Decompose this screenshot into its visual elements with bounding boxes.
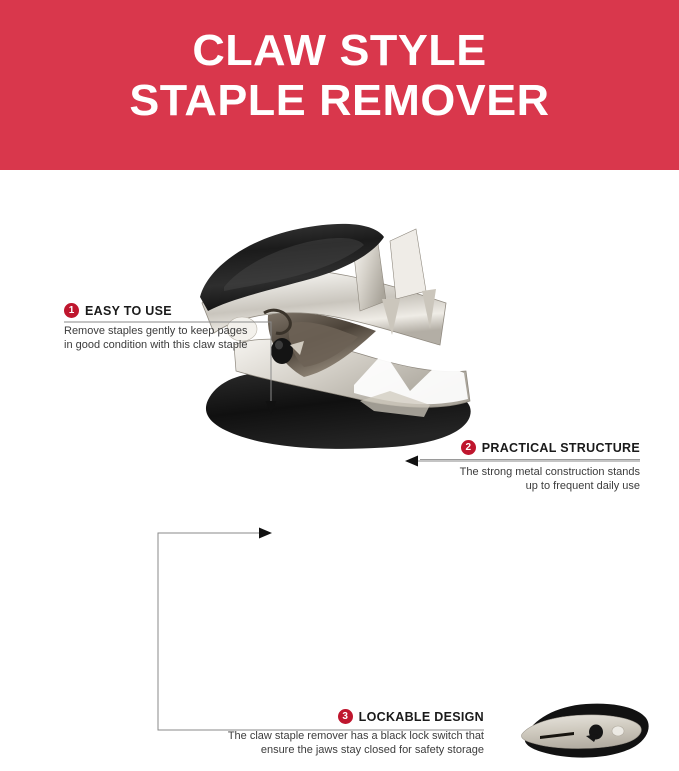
callout-1-heading: 1 EASY TO USE	[64, 303, 279, 318]
title-line-1: CLAW STYLE	[0, 26, 679, 76]
callout-3-body: The claw staple remover has a black lock…	[216, 730, 484, 757]
title-line-2: STAPLE REMOVER	[0, 76, 679, 126]
inset-rivet	[612, 726, 624, 736]
callout-2-body: The strong metal construction stands up …	[420, 466, 640, 493]
callout-1-body: Remove staples gently to keep pages in g…	[64, 325, 279, 352]
callout-lockable-design: 3 LOCKABLE DESIGN The claw staple remove…	[216, 709, 484, 757]
claw-tooth-2	[390, 229, 426, 299]
callout-1-badge: 1	[64, 303, 79, 318]
inset-product-image	[512, 692, 664, 764]
callout-easy-to-use: 1 EASY TO USE Remove staples gently to k…	[64, 303, 279, 352]
callout-3-badge: 3	[338, 709, 353, 724]
page-title: CLAW STYLE STAPLE REMOVER	[0, 26, 679, 126]
callout-1-title: EASY TO USE	[85, 304, 172, 318]
connector-arrow-3	[259, 528, 272, 539]
callout-2-heading: 2 PRACTICAL STRUCTURE	[420, 440, 640, 455]
callout-practical-structure: 2 PRACTICAL STRUCTURE The strong metal c…	[420, 440, 640, 493]
callout-2-title: PRACTICAL STRUCTURE	[482, 441, 640, 455]
callout-3-title: LOCKABLE DESIGN	[359, 710, 484, 724]
locked-view-illustration	[512, 692, 664, 764]
header-banner: CLAW STYLE STAPLE REMOVER	[0, 0, 679, 170]
callout-2-badge: 2	[461, 440, 476, 455]
callout-3-heading: 3 LOCKABLE DESIGN	[216, 709, 484, 724]
callout-2-divider	[420, 459, 640, 460]
connector-line-3	[158, 533, 484, 730]
product-infographic: CLAW STYLE STAPLE REMOVER	[0, 0, 679, 771]
